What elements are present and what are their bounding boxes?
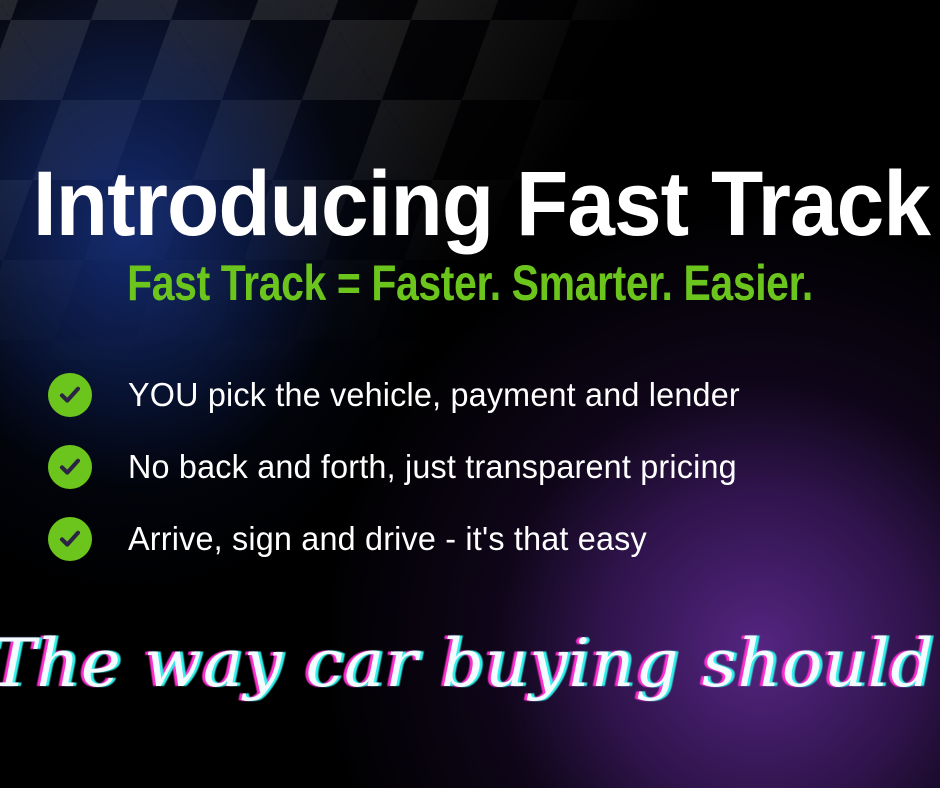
check-circle-icon [48,373,92,417]
list-item: No back and forth, just transparent pric… [48,444,898,490]
list-item-label: Arrive, sign and drive - it's that easy [128,520,647,558]
list-item: YOU pick the vehicle, payment and lender [48,372,898,418]
poster-content: Introducing Fast Track Fast Track = Fast… [0,0,940,788]
promo-poster: Introducing Fast Track Fast Track = Fast… [0,0,940,788]
feature-list: YOU pick the vehicle, payment and lender… [48,372,898,588]
tagline-text: The way car buying should be. [0,614,940,714]
check-circle-icon [48,517,92,561]
list-item: Arrive, sign and drive - it's that easy [48,516,898,562]
list-item-label: YOU pick the vehicle, payment and lender [128,376,740,414]
tagline: The way car buying should be. The way ca… [0,614,940,724]
check-circle-icon [48,445,92,489]
list-item-label: No back and forth, just transparent pric… [128,448,737,486]
page-title: Introducing Fast Track [33,158,907,250]
subtitle: Fast Track = Faster. Smarter. Easier. [85,258,856,308]
